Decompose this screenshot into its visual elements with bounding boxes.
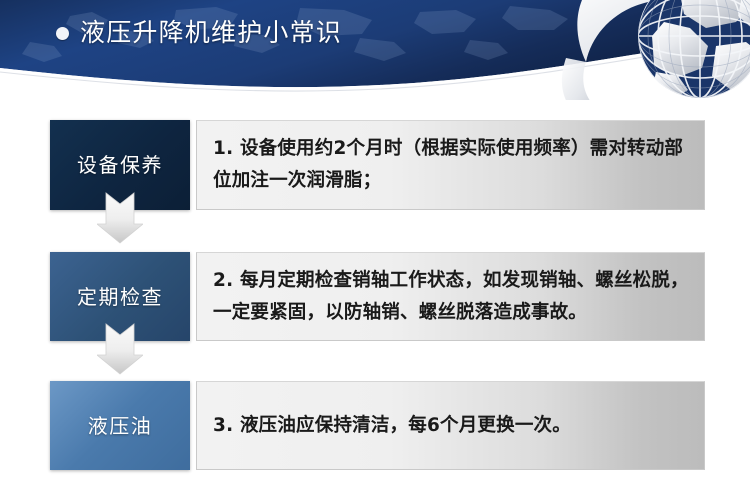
down-arrow-icon (97, 192, 143, 244)
step-text-panel-3: 3. 液压油应保持清洁，每6个月更换一次。 (196, 381, 705, 470)
step-label-text: 定期检查 (77, 285, 163, 309)
filled-circle-bullet-icon (56, 27, 69, 40)
slide-title-text: 液压升降机维护小常识 (80, 18, 342, 48)
slide-canvas: 液压升降机维护小常识 设备保养 1. 设备使用约2个月时（根据实际使用频率）需对… (0, 0, 750, 495)
steps-list: 设备保养 1. 设备使用约2个月时（根据实际使用频率）需对转动部位加注一次润滑脂… (0, 0, 750, 495)
down-arrow-icon (97, 323, 143, 375)
step-text-panel-2: 2. 每月定期检查销轴工作状态，如发现销轴、螺丝松脱，一定要紧固，以防轴销、螺丝… (196, 252, 705, 341)
slide-title: 液压升降机维护小常识 (56, 18, 342, 48)
step-label-box-3[interactable]: 液压油 (50, 381, 190, 470)
step-label-text: 液压油 (88, 414, 153, 438)
step-label-text: 设备保养 (77, 153, 163, 177)
step-description-text: 1. 设备使用约2个月时（根据实际使用频率）需对转动部位加注一次润滑脂； (213, 133, 690, 197)
step-row: 液压油 3. 液压油应保持清洁，每6个月更换一次。 (0, 381, 750, 470)
step-text-panel-1: 1. 设备使用约2个月时（根据实际使用频率）需对转动部位加注一次润滑脂； (196, 120, 705, 210)
step-description-text: 2. 每月定期检查销轴工作状态，如发现销轴、螺丝松脱，一定要紧固，以防轴销、螺丝… (213, 265, 690, 329)
step-description-text: 3. 液压油应保持清洁，每6个月更换一次。 (213, 410, 571, 442)
